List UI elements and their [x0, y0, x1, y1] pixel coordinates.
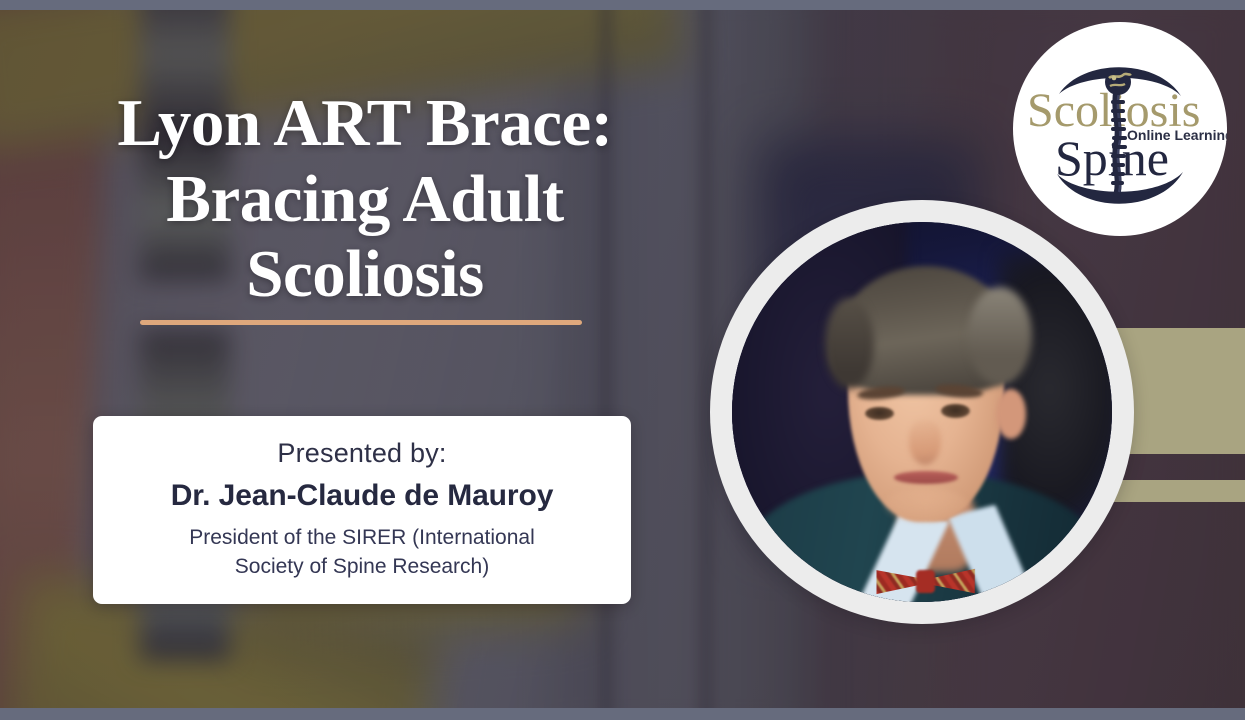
presenter-portrait-photo [732, 222, 1112, 602]
portrait-hair-right-side [968, 287, 1033, 386]
title-accent-rule [140, 320, 582, 325]
bottom-edge-bar [0, 708, 1245, 720]
presenter-portrait-ring: Photograph of Dr. Jean-Claude de Mauroy … [710, 200, 1134, 624]
portrait-eye-right [941, 404, 970, 418]
logo-tagline: Online Learning [1127, 127, 1227, 143]
top-edge-bar [0, 0, 1245, 10]
portrait-chin [884, 488, 968, 522]
portrait-mouth [894, 471, 959, 484]
logo-artwork: Scoliosis Spine Online Learning [1013, 22, 1227, 236]
presented-by-label: Presented by: [277, 438, 446, 469]
portrait-eye-left [865, 407, 894, 421]
presenter-role: President of the SIRER (International So… [162, 524, 562, 582]
slide-title: Lyon ART Brace: Bracing Adult Scoliosis [70, 86, 660, 313]
presenter-name: Dr. Jean-Claude de Mauroy [171, 479, 554, 513]
portrait-nose [909, 420, 941, 466]
scoliosis-spine-logo[interactable]: Scoliosis Spine Online Learning [1013, 22, 1227, 236]
presentation-slide: Lyon ART Brace: Bracing Adult Scoliosis … [0, 0, 1245, 720]
portrait-ear [996, 389, 1026, 438]
presenter-card: Presented by: Dr. Jean-Claude de Mauroy … [93, 416, 631, 604]
portrait-bow-tie-knot [916, 570, 935, 593]
